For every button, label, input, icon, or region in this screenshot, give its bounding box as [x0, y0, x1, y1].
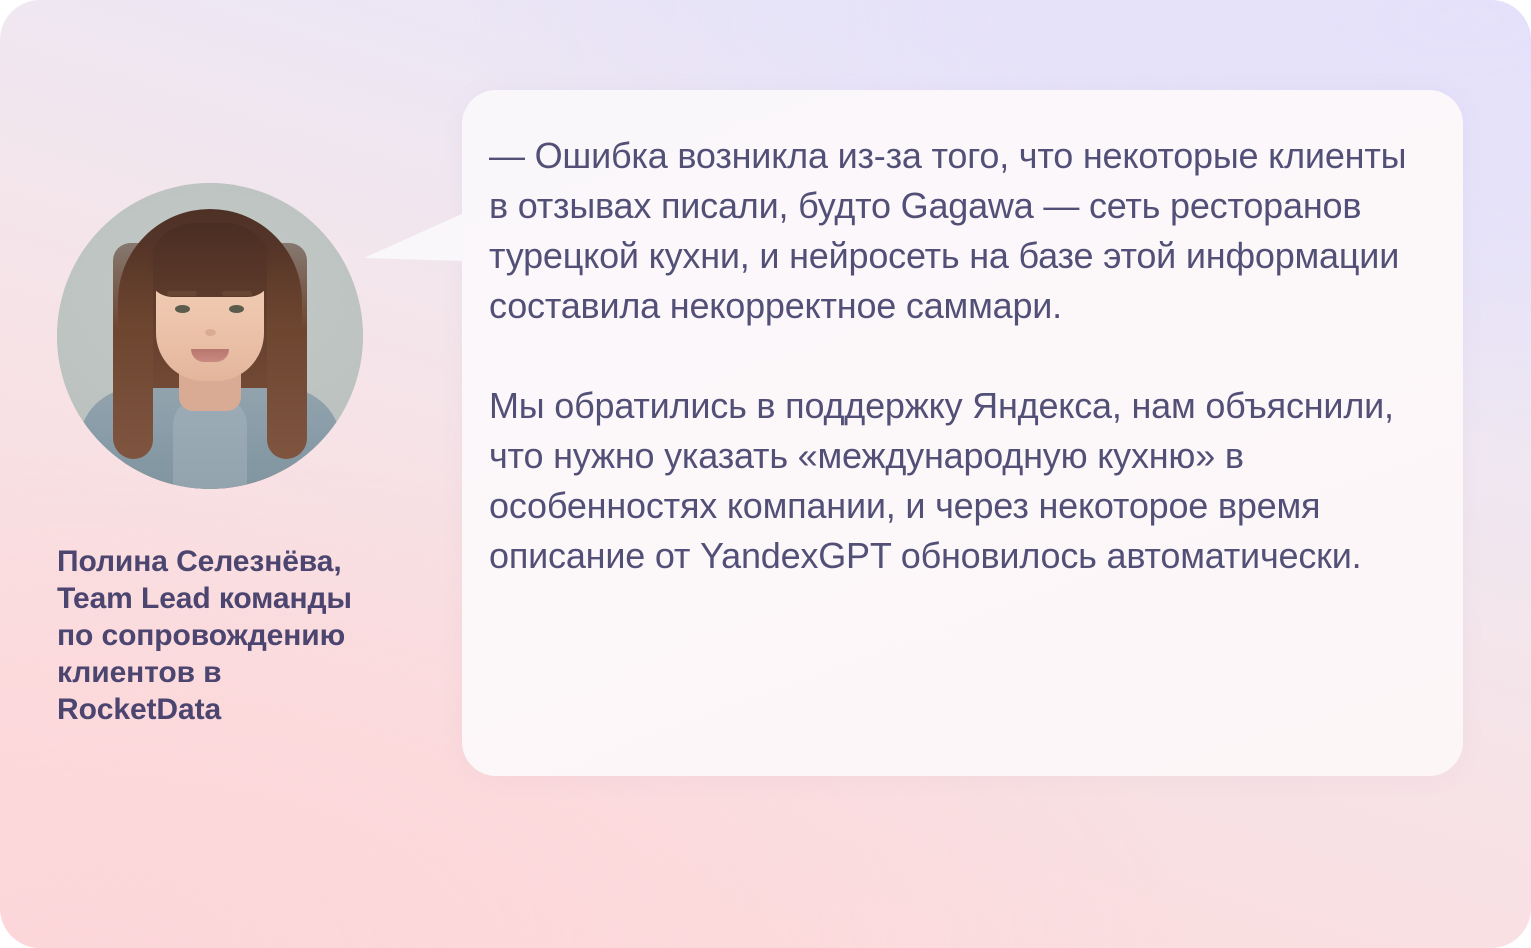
quote-card-canvas: Полина Селезнёва, Team Lead команды по с… [0, 0, 1531, 948]
avatar-eye-right [229, 305, 244, 313]
avatar-eyebrow-left [167, 291, 197, 296]
quote-paragraph-1: — Ошибка возникла из-за того, что некото… [489, 131, 1419, 331]
speaker-caption: Полина Селезнёва, Team Lead команды по с… [57, 543, 447, 728]
avatar-photo [57, 183, 363, 489]
avatar-hair-strand-right [267, 243, 307, 459]
avatar-eyebrow-right [222, 291, 252, 296]
avatar-eye-left [175, 305, 190, 313]
quote-paragraph-2: Мы обратились в поддержку Яндекса, нам о… [489, 381, 1419, 581]
speaker-column: Полина Селезнёва, Team Lead команды по с… [57, 183, 447, 728]
avatar-nose [205, 329, 216, 336]
avatar-fringe [147, 223, 273, 297]
bubble-tail-icon [364, 213, 464, 261]
avatar-hair-strand-left [113, 243, 153, 459]
quote-text: — Ошибка возникла из-за того, что некото… [489, 131, 1419, 581]
avatar [57, 183, 363, 489]
